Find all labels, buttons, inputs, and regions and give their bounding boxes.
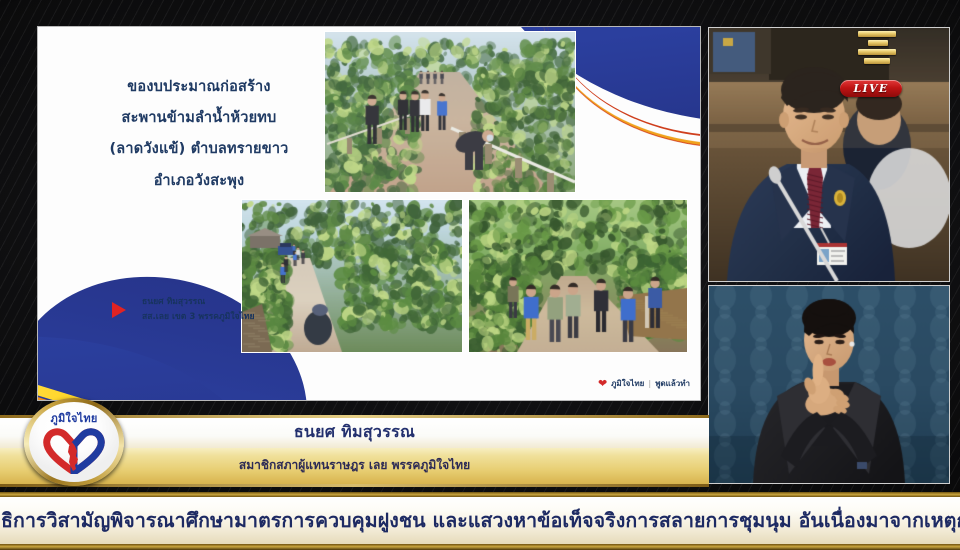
party-logo-face: ภูมิใจไทย [29, 402, 119, 482]
sign-language-interpreter-panel[interactable] [709, 286, 949, 483]
heart-icon: ❤ [598, 378, 607, 389]
news-ticker: าธิการวิสามัญพิจารณาศึกษามาตรการควบคุมฝู… [0, 492, 960, 550]
watermark-separator: | [648, 379, 651, 388]
slide-headline-line-4: อำเภอวังสะพุง [74, 166, 324, 197]
slide-watermark: ❤ ภูมิใจไทย | พูดแล้วทำ [598, 377, 690, 390]
slide-photo-bottom-right [469, 200, 687, 352]
slide-photo-bottom-left [242, 200, 462, 352]
slide-photo-top [325, 32, 575, 192]
slide-headline-line-3: (ลาดวังแข้) ตำบลทรายขาว [74, 134, 324, 165]
ticker-body: าธิการวิสามัญพิจารณาศึกษามาตรการควบคุมฝู… [0, 497, 960, 544]
party-logo: ภูมิใจไทย [24, 398, 124, 486]
heart-map-icon [43, 428, 105, 474]
channel-logo-icon [856, 31, 900, 64]
slide-headline-line-1: ของบประมาณก่อสร้าง [74, 72, 324, 103]
speaker-video-panel[interactable] [709, 28, 949, 281]
live-badge: LIVE [840, 80, 902, 97]
watermark-slogan: พูดแล้วทำ [655, 377, 690, 390]
slide-speaker-role: สส.เลย เขต 3 พรรคภูมิใจไทย [142, 310, 255, 325]
watermark-party-label: ภูมิใจไทย [611, 377, 644, 390]
triangle-bullet-icon [112, 302, 126, 318]
slide-headline-line-2: สะพานข้ามลำน้ำห้วยทบ [74, 103, 324, 134]
presentation-slide: ของบประมาณก่อสร้าง สะพานข้ามลำน้ำห้วยทบ … [38, 27, 700, 400]
slide-speaker-name: ธนยศ ทิมสุวรรณ [142, 295, 255, 310]
broadcast-frame: ของบประมาณก่อสร้าง สะพานข้ามลำน้ำห้วยทบ … [0, 0, 960, 550]
party-logo-label: ภูมิใจไทย [51, 409, 98, 427]
ticker-text: าธิการวิสามัญพิจารณาศึกษามาตรการควบคุมฝู… [0, 505, 960, 536]
ticker-bottom-rule [0, 544, 960, 550]
slide-headline: ของบประมาณก่อสร้าง สะพานข้ามลำน้ำห้วยทบ … [74, 72, 324, 197]
slide-speaker-credit: ธนยศ ทิมสุวรรณ สส.เลย เขต 3 พรรคภูมิใจไท… [142, 295, 255, 325]
